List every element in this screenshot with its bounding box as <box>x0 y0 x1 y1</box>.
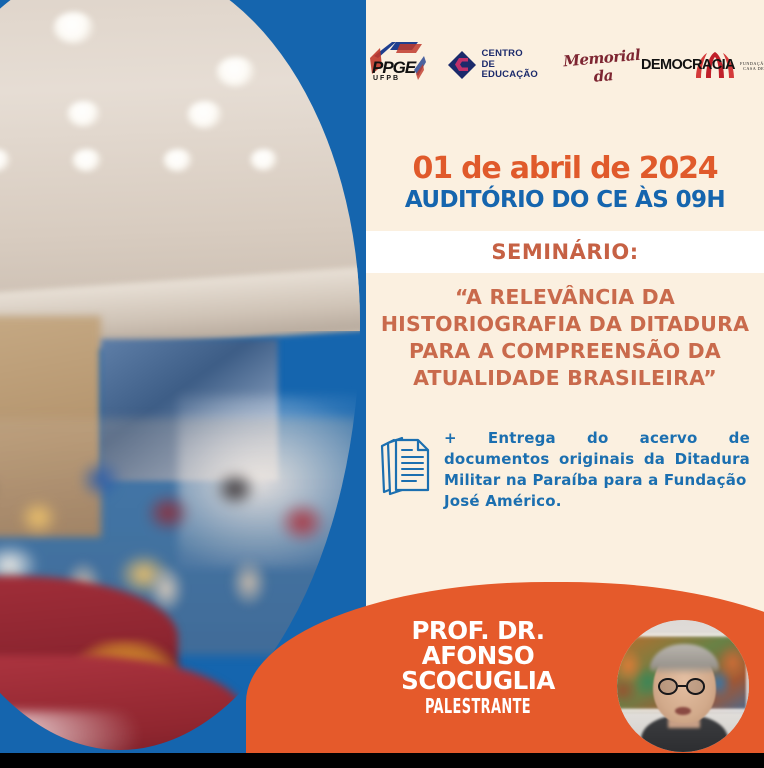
speaker-role: PALESTRANTE <box>392 694 565 718</box>
ppge-logo-secondary: UFPB <box>366 75 415 82</box>
archive-note-text: + Entrega do acervo de documentos origin… <box>444 428 750 512</box>
eyeglasses-icon <box>658 678 678 695</box>
event-place-time: AUDITÓRIO DO CE ÀS 09H <box>366 186 764 214</box>
ppge-logo-primary: PPGE <box>366 48 415 75</box>
seminar-label-band: SEMINÁRIO: <box>366 231 764 273</box>
bottom-bar <box>0 753 764 768</box>
speaker-name-line: AFONSO <box>358 643 598 668</box>
speaker-section: PROF. DR. AFONSO SCOCUGLIA PALESTRANTE <box>246 582 764 768</box>
centro-line-2: DE EDUCAÇÃO <box>482 60 539 81</box>
seminar-title: “A RELEVÂNCIA DA HISTORIOGRAFIA DA DITAD… <box>366 284 764 392</box>
archive-note-lastline: José Américo. <box>444 491 750 512</box>
speaker-name-line: SCOCUGLIA <box>358 668 598 693</box>
speaker-name: PROF. DR. AFONSO SCOCUGLIA <box>358 618 598 693</box>
seminar-title-line: PARA A COMPREENSÃO DA <box>366 338 764 365</box>
archive-delivery-note: + Entrega do acervo de documentos origin… <box>378 428 750 512</box>
democracia-wordmark: DEMOCRACIA <box>641 57 735 73</box>
archive-note-body: + Entrega do acervo de documentos origin… <box>444 429 750 489</box>
event-date-block: 01 de abril de 2024 AUDITÓRIO DO CE ÀS 0… <box>366 152 764 214</box>
fundacao-line-1: FUNDAÇÃO CASA DE <box>740 61 764 71</box>
event-poster: PPGE UFPB CENTRO DE EDUCAÇÃO Memorial d <box>0 0 764 768</box>
memorial-da-democracia-logo: Memorial da DEMOCRACIA <box>564 49 664 82</box>
seminar-label: SEMINÁRIO: <box>491 240 638 264</box>
speaker-name-line: PROF. DR. <box>358 618 598 643</box>
documents-icon <box>378 432 434 498</box>
seminar-title-line: ATUALIDADE BRASILEIRA” <box>366 365 764 392</box>
centro-de-educacao-mark <box>447 50 477 80</box>
logo-row: PPGE UFPB CENTRO DE EDUCAÇÃO Memorial d <box>366 34 764 96</box>
seminar-title-line: “A RELEVÂNCIA DA <box>366 284 764 311</box>
ppge-ufpb-logo: PPGE UFPB <box>366 40 421 90</box>
event-date: 01 de abril de 2024 <box>366 152 764 186</box>
seminar-title-line: HISTORIOGRAFIA DA DITADURA <box>366 311 764 338</box>
speaker-portrait <box>617 620 749 752</box>
centro-de-educacao-wordmark: CENTRO DE EDUCAÇÃO <box>482 49 539 81</box>
memorial-script-text: Memorial da <box>563 45 643 88</box>
centro-de-educacao-logo: CENTRO DE EDUCAÇÃO <box>447 49 539 81</box>
